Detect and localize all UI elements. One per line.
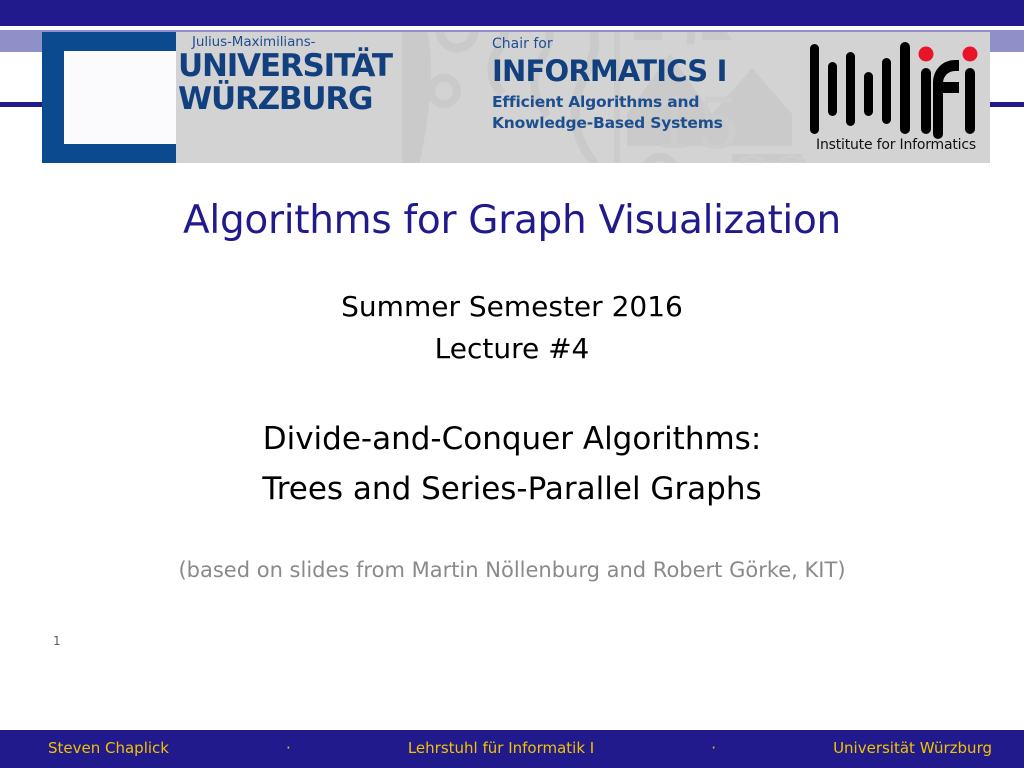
footer-content: Steven Chaplick · Lehrstuhl für Informat… <box>48 739 992 757</box>
heading-line-2: Trees and Series-Parallel Graphs <box>0 464 1024 514</box>
semester-text: Summer Semester 2016 <box>0 286 1024 328</box>
header-logo-strip: 15 83 Julius-Maximilians- UNIVERSITÄT WÜ… <box>42 32 990 163</box>
top-navy-band <box>0 0 1024 26</box>
page-number: 1 <box>53 634 61 648</box>
university-bracket-mark-icon <box>42 32 176 163</box>
university-wordmark: Julius-Maximilians- UNIVERSITÄT WÜRZBURG <box>178 36 438 115</box>
chair-line-3: Efficient Algorithms and <box>492 94 792 111</box>
footer-institution: Universität Würzburg <box>833 739 992 757</box>
footer-separator-2: · <box>711 739 716 757</box>
slide-title: Algorithms for Graph Visualization <box>0 198 1024 243</box>
footer-separator-1: · <box>286 739 291 757</box>
slide-heading: Divide-and-Conquer Algorithms: Trees and… <box>0 414 1024 514</box>
chair-line-4: Knowledge-Based Systems <box>492 115 792 132</box>
chair-wordmark: Chair for INFORMATICS I Efficient Algori… <box>492 37 792 132</box>
lecture-number-text: Lecture #4 <box>0 328 1024 370</box>
university-bracket-notch <box>64 51 176 144</box>
ifi-caption: Institute for Informatics <box>802 137 990 153</box>
footer-bar: Steven Chaplick · Lehrstuhl für Informat… <box>0 730 1024 768</box>
chair-line-2: INFORMATICS I <box>492 55 792 87</box>
footer-chair: Lehrstuhl für Informatik I <box>408 739 594 757</box>
slide-subtitle: Summer Semester 2016 Lecture #4 <box>0 286 1024 370</box>
slide-credit: (based on slides from Martin Nöllenburg … <box>0 558 1024 582</box>
footer-author: Steven Chaplick <box>48 739 169 757</box>
chair-line-1: Chair for <box>492 37 792 53</box>
university-line-2: UNIVERSITÄT <box>178 51 438 82</box>
university-line-3: WÜRZBURG <box>178 84 438 115</box>
heading-line-1: Divide-and-Conquer Algorithms: <box>0 414 1024 464</box>
